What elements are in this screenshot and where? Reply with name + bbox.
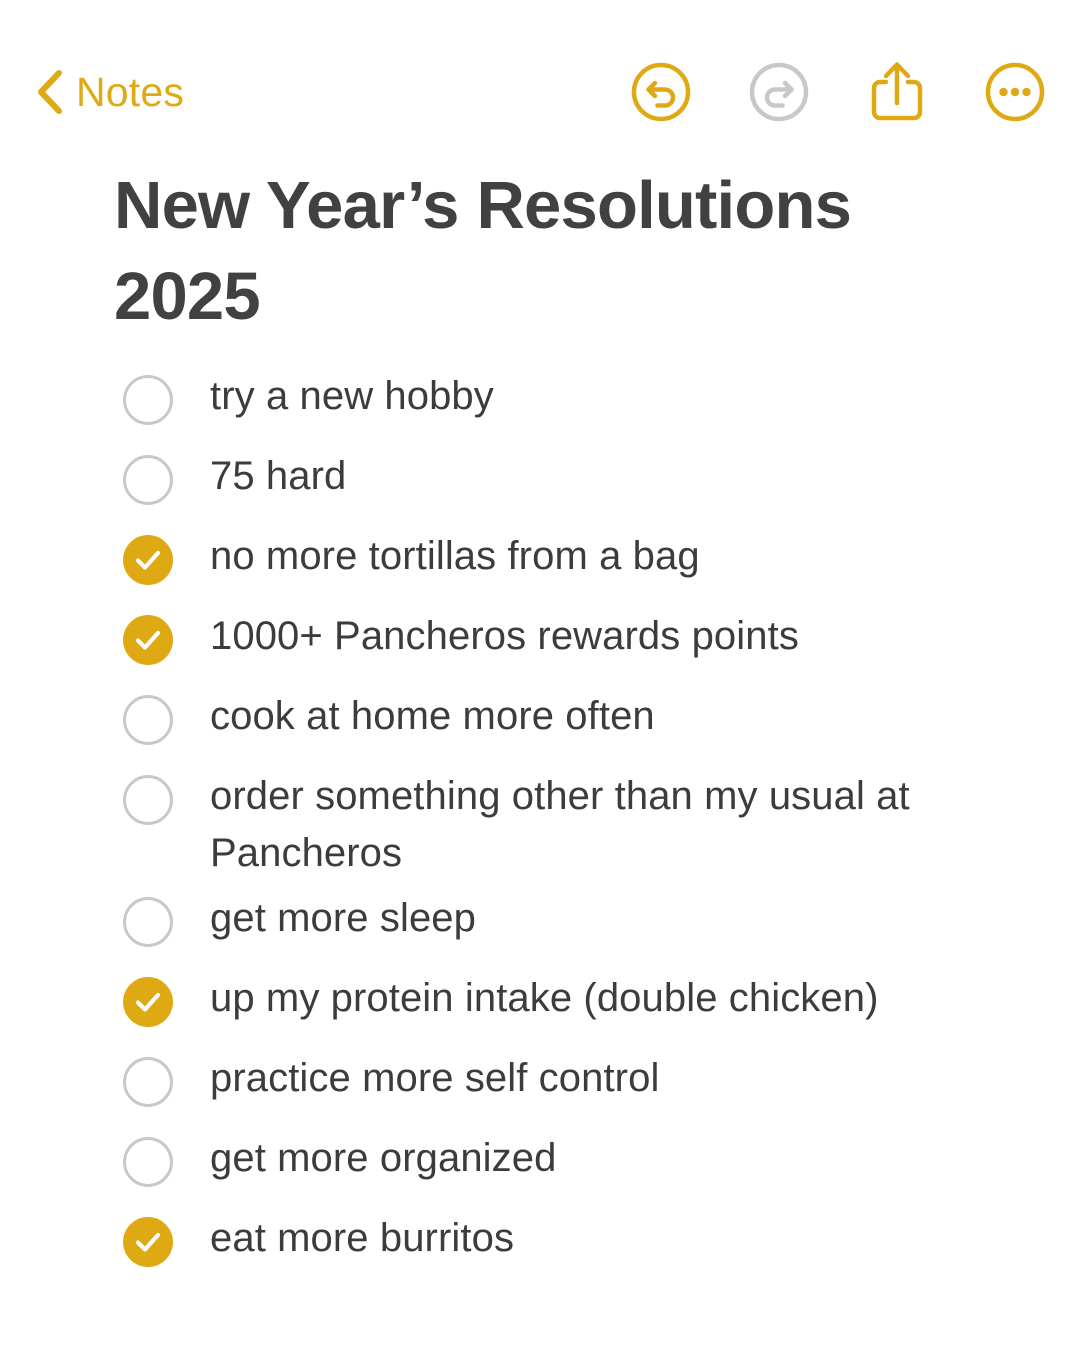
checklist-item-label: practice more self control — [173, 1042, 659, 1107]
checkbox-checked-icon[interactable] — [123, 615, 173, 665]
checklist-item-label: order something other than my usual at P… — [173, 760, 968, 882]
checkbox-unchecked-icon[interactable] — [123, 775, 173, 825]
checklist-item-label: eat more burritos — [173, 1202, 514, 1267]
more-options-button[interactable] — [984, 61, 1046, 123]
checklist-item-label: up my protein intake (double chicken) — [173, 962, 879, 1027]
checkbox-unchecked-icon[interactable] — [123, 1137, 173, 1187]
undo-icon — [630, 61, 692, 123]
checkbox-checked-icon[interactable] — [123, 535, 173, 585]
checkbox-unchecked-icon[interactable] — [123, 455, 173, 505]
checklist-item-label: get more sleep — [173, 882, 476, 947]
checkbox-unchecked-icon[interactable] — [123, 375, 173, 425]
checklist-item[interactable]: get more organized — [114, 1122, 968, 1202]
checklist-item-label: 75 hard — [173, 440, 346, 505]
navbar-actions — [630, 61, 1046, 123]
checklist-item[interactable]: 1000+ Pancheros rewards points — [114, 600, 968, 680]
checklist-item[interactable]: try a new hobby — [114, 360, 968, 440]
checklist-item-label: 1000+ Pancheros rewards points — [173, 600, 799, 665]
checklist-item[interactable]: up my protein intake (double chicken) — [114, 962, 968, 1042]
undo-button[interactable] — [630, 61, 692, 123]
checklist-item[interactable]: cook at home more often — [114, 680, 968, 760]
redo-button[interactable] — [748, 61, 810, 123]
checklist-item[interactable]: eat more burritos — [114, 1202, 968, 1282]
checklist-item[interactable]: 75 hard — [114, 440, 968, 520]
share-icon — [866, 59, 928, 125]
checklist: try a new hobby75 hardno more tortillas … — [114, 360, 968, 1282]
share-button[interactable] — [866, 61, 928, 123]
redo-icon — [748, 61, 810, 123]
checklist-item[interactable]: practice more self control — [114, 1042, 968, 1122]
checklist-item[interactable]: no more tortillas from a bag — [114, 520, 968, 600]
back-to-notes-button[interactable]: Notes — [36, 70, 184, 114]
checklist-item-label: cook at home more often — [173, 680, 655, 745]
navigation-bar: Notes — [0, 52, 1080, 132]
checkbox-unchecked-icon[interactable] — [123, 695, 173, 745]
chevron-left-icon — [36, 70, 62, 114]
checklist-item-label: try a new hobby — [173, 360, 494, 425]
note-content: New Year’s Resolutions 2025 try a new ho… — [0, 160, 1080, 1282]
checklist-item[interactable]: order something other than my usual at P… — [114, 760, 968, 882]
back-to-notes-label: Notes — [76, 72, 184, 113]
checklist-item-label: get more organized — [173, 1122, 556, 1187]
checklist-item[interactable]: get more sleep — [114, 882, 968, 962]
checkbox-checked-icon[interactable] — [123, 1217, 173, 1267]
checklist-item-label: no more tortillas from a bag — [173, 520, 700, 585]
checkbox-unchecked-icon[interactable] — [123, 1057, 173, 1107]
note-title: New Year’s Resolutions 2025 — [114, 160, 914, 342]
checkbox-checked-icon[interactable] — [123, 977, 173, 1027]
notes-app-screen: Notes — [0, 0, 1080, 1350]
checkbox-unchecked-icon[interactable] — [123, 897, 173, 947]
ellipsis-icon — [984, 61, 1046, 123]
